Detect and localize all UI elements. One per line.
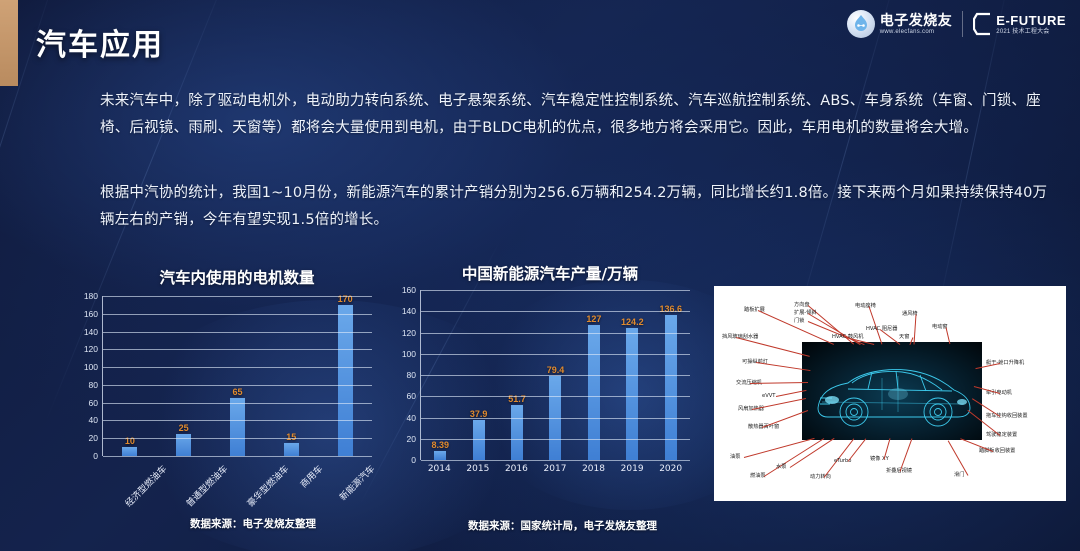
bar-value-label: 25 <box>179 423 189 433</box>
bar[interactable] <box>511 405 523 460</box>
car-leader-line <box>752 398 806 410</box>
grid-line <box>103 456 372 457</box>
bar-item[interactable]: 10 <box>122 296 137 456</box>
bar-item[interactable]: 170 <box>338 296 353 456</box>
bar-value-label: 65 <box>232 387 242 397</box>
car-part-label: eVVT <box>762 393 775 400</box>
x-axis-labels: 2014201520162017201820192020 <box>390 464 690 474</box>
car-leader-line <box>948 440 969 475</box>
y-tick-label: 100 <box>84 362 98 372</box>
y-axis: 020406080100120140160180 <box>72 296 102 456</box>
grid-line <box>103 367 372 368</box>
grid-line <box>421 375 690 376</box>
car-wireframe-icon <box>802 342 982 440</box>
bar-value-label: 127 <box>586 314 601 324</box>
body-paragraph-2: 根据中汽协的统计，我国1~10月份，新能源汽车的累计产销分别为256.6万辆和2… <box>100 180 1060 234</box>
bar-value-label: 136.6 <box>659 304 682 314</box>
car-leader-line <box>960 438 993 452</box>
car-xray-photo <box>802 342 982 440</box>
bar[interactable] <box>284 443 299 456</box>
grid-line <box>103 438 372 439</box>
page-title: 汽车应用 <box>36 20 164 64</box>
bar-value-label: 79.4 <box>547 365 565 375</box>
elecfans-logo: 电子发烧友 www.elecfans.com <box>847 10 953 38</box>
grid-area: 8.3937.951.779.4127124.2136.6 <box>420 290 690 460</box>
elecfans-name: 电子发烧友 <box>880 13 953 27</box>
x-tick-label: 2017 <box>544 464 567 474</box>
x-tick-label: 商用车 <box>297 462 325 490</box>
car-leader-line <box>750 382 808 384</box>
grid-line <box>103 332 372 333</box>
y-tick-label: 80 <box>407 370 416 380</box>
y-tick-label: 140 <box>84 327 98 337</box>
grid-line <box>421 333 690 334</box>
grid-line <box>103 420 372 421</box>
light-streak <box>935 0 1011 322</box>
grid-area: 10256515170 <box>102 296 372 456</box>
grid-line <box>421 439 690 440</box>
y-tick-label: 60 <box>89 398 98 408</box>
grid-line <box>421 290 690 291</box>
bar[interactable] <box>122 447 137 456</box>
chart-title: 中国新能源汽车产量/万辆 <box>390 262 710 284</box>
x-tick-label: 豪华型燃油车 <box>244 462 291 509</box>
x-tick-label: 2019 <box>621 464 644 474</box>
x-tick-label: 普通型燃油车 <box>183 462 230 509</box>
y-tick-label: 120 <box>402 328 416 338</box>
chart2-source: 数据来源：国家统计局，电子发烧友整理 <box>468 518 657 533</box>
car-part-label: 动力转向 <box>810 474 831 481</box>
y-tick-label: 140 <box>402 306 416 316</box>
y-tick-label: 20 <box>407 434 416 444</box>
y-tick-label: 100 <box>402 349 416 359</box>
car-part-label: 电动座椅 <box>855 303 876 310</box>
elecfans-flame-icon <box>847 10 875 38</box>
x-tick-label: 2015 <box>466 464 489 474</box>
grid-line <box>421 354 690 355</box>
bar-item[interactable]: 25 <box>176 296 191 456</box>
car-leader-line <box>914 314 917 344</box>
x-tick-label: 2020 <box>659 464 682 474</box>
y-tick-label: 40 <box>89 415 98 425</box>
y-tick-label: 60 <box>407 391 416 401</box>
logo-divider <box>962 11 963 37</box>
car-part-label: 镜像 XY <box>870 456 889 463</box>
car-part-label: 水泵 <box>776 464 786 471</box>
grid-line <box>103 403 372 404</box>
y-tick-label: 120 <box>84 344 98 354</box>
x-tick-label: 新能源汽车 <box>337 462 378 503</box>
x-tick-label: 经济型燃油车 <box>121 462 168 509</box>
efuture-name: E-FUTURE <box>996 14 1066 27</box>
body-paragraph-1: 未来汽车中，除了驱动电机外，电动助力转向系统、电子悬架系统、汽车稳定性控制系统、… <box>100 88 1060 142</box>
car-part-label: 滑门 <box>954 472 964 479</box>
grid-line <box>103 385 372 386</box>
x-tick-label: 2014 <box>428 464 451 474</box>
car-leader-line <box>736 337 810 357</box>
grid-line <box>421 460 690 461</box>
chart-title: 汽车内使用的电机数量 <box>72 266 402 288</box>
chart-nev-production: 中国新能源汽车产量/万辆 020406080100120140160 8.393… <box>390 262 710 472</box>
bar-value-label: 8.39 <box>431 440 449 450</box>
bar-value-label: 15 <box>286 432 296 442</box>
bar-value-label: 124.2 <box>621 317 644 327</box>
logo-group: 电子发烧友 www.elecfans.com E-FUTURE 2021 技术工… <box>847 10 1066 38</box>
car-part-label: 门锁 <box>794 318 804 325</box>
grid-line <box>103 349 372 350</box>
efuture-shield-icon <box>973 12 993 36</box>
grid-line <box>421 311 690 312</box>
y-tick-label: 160 <box>402 285 416 295</box>
y-tick-label: 160 <box>84 309 98 319</box>
bar-item[interactable]: 65 <box>230 296 245 456</box>
grid-line <box>103 314 372 315</box>
y-tick-label: 20 <box>89 433 98 443</box>
x-tick-label: 2016 <box>505 464 528 474</box>
car-part-label: 天窗 <box>899 334 909 341</box>
efuture-logo: E-FUTURE 2021 技术工程大会 <box>973 12 1066 36</box>
bar[interactable] <box>473 420 485 460</box>
chart-motor-count: 汽车内使用的电机数量 020406080100120140160180 1025… <box>72 266 402 466</box>
bar[interactable] <box>338 305 353 456</box>
car-part-label: 油泵 <box>730 454 740 461</box>
bar[interactable] <box>626 328 638 460</box>
y-tick-label: 80 <box>89 380 98 390</box>
bar-series: 10256515170 <box>103 296 372 456</box>
grid-line <box>103 296 372 297</box>
y-tick-label: 180 <box>84 291 98 301</box>
efuture-subtitle: 2021 技术工程大会 <box>996 29 1066 35</box>
grid-line <box>421 418 690 419</box>
slide-canvas: 汽车应用 电子发烧友 www.elecfans.com E-FU <box>0 0 1080 551</box>
y-tick-label: 0 <box>93 451 98 461</box>
bar[interactable] <box>230 398 245 456</box>
bar[interactable] <box>434 451 446 460</box>
plot-area: 020406080100120140160180 10256515170 <box>72 296 372 456</box>
grid-line <box>421 396 690 397</box>
title-accent-bar <box>0 0 18 86</box>
elecfans-url: www.elecfans.com <box>880 29 953 35</box>
car-component-diagram: 踏板扩展挡风玻璃刮水器可操纵前灯交流压缩机eVVT风扇加热器散热器百叶窗方向盘扩… <box>714 286 1066 501</box>
car-part-label: 驾驶稳定装置 <box>986 432 1017 439</box>
x-axis-labels: 经济型燃油车普通型燃油车豪华型燃油车商用车新能源汽车 <box>72 462 372 475</box>
y-axis: 020406080100120140160 <box>390 290 420 460</box>
x-tick-label: 2018 <box>582 464 605 474</box>
bar[interactable] <box>176 434 191 456</box>
bar[interactable] <box>588 325 600 460</box>
car-part-label: 拖车挂钩收回装置 <box>986 413 1028 420</box>
plot-area: 020406080100120140160 8.3937.951.779.412… <box>390 290 690 460</box>
y-tick-label: 40 <box>407 413 416 423</box>
chart1-source: 数据来源：电子发烧友整理 <box>190 516 316 531</box>
bar-item[interactable]: 15 <box>284 296 299 456</box>
car-leader-line <box>744 438 814 458</box>
car-leader-line <box>900 438 913 471</box>
